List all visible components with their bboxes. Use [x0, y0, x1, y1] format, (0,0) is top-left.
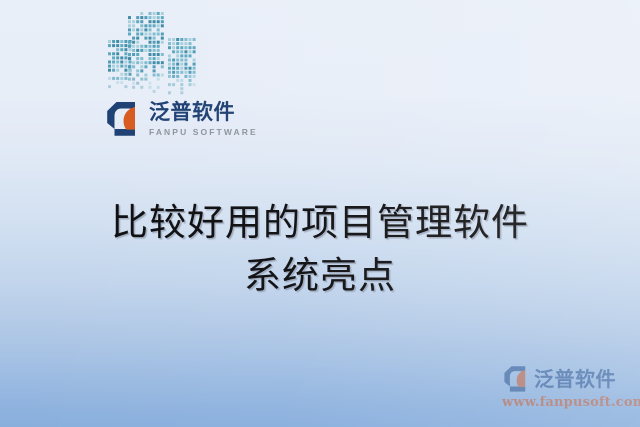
brand-name-cn: 泛普软件 — [149, 101, 258, 123]
watermark-name-cn: 泛普软件 — [534, 369, 616, 389]
brand-text-block: 泛普软件 FANPU SOFTWARE — [149, 101, 258, 136]
watermark: 泛普软件 www.fanpusoft.com — [502, 364, 636, 410]
watermark-logo-row: 泛普软件 — [502, 364, 636, 394]
brand-logo: 泛普软件 FANPU SOFTWARE — [104, 99, 258, 139]
pixel-buildings-svg — [104, 4, 204, 96]
brand-name-en: FANPU SOFTWARE — [149, 127, 258, 137]
fanpu-logo-mark-icon — [104, 99, 144, 139]
page-title-line-1: 比较好用的项目管理软件 — [0, 196, 640, 249]
fanpu-watermark-mark-icon — [502, 364, 532, 394]
page-title-line-2: 系统亮点 — [0, 249, 640, 302]
watermark-url: www.fanpusoft.com — [502, 395, 636, 410]
pixel-buildings-graphic — [104, 4, 204, 96]
page-title: 比较好用的项目管理软件 系统亮点 — [0, 196, 640, 302]
slide-canvas: 泛普软件 FANPU SOFTWARE 比较好用的项目管理软件 系统亮点 泛普软… — [0, 0, 640, 427]
